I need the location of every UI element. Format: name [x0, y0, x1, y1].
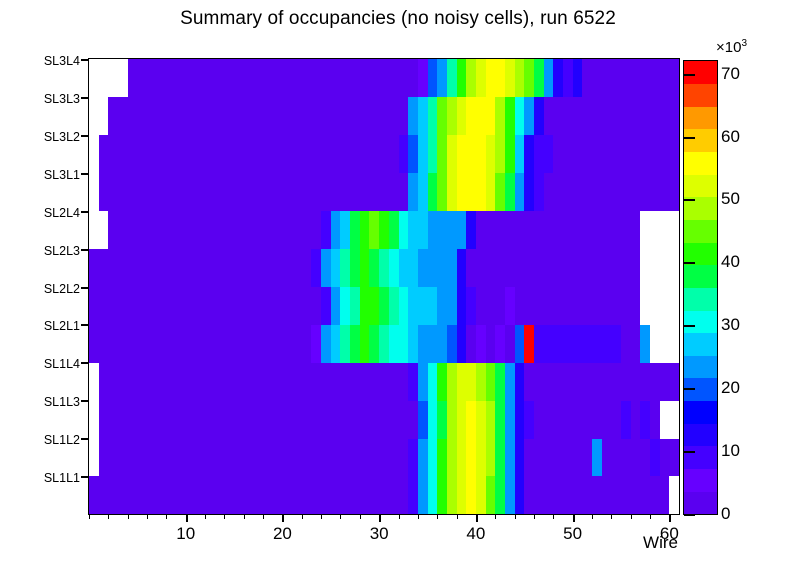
heatmap-cell [621, 324, 641, 362]
color-bar-tick [684, 74, 695, 76]
y-axis-label-sl3l3: SL3L3 [44, 92, 80, 106]
x-axis-minor-tick [437, 514, 438, 519]
heatmap-cell [495, 362, 505, 400]
heatmap-cell [360, 324, 370, 362]
heatmap-cell [321, 324, 331, 362]
color-bar: 010203040506070 [683, 60, 718, 515]
heatmap-cell [89, 135, 99, 173]
color-bar-band [684, 333, 717, 356]
heatmap-cell [495, 173, 505, 211]
heatmap-cell [99, 400, 419, 438]
color-bar-strip [684, 61, 717, 514]
heatmap-cell [418, 324, 447, 362]
heatmap-cell [457, 476, 467, 514]
heatmap-cell [418, 135, 428, 173]
heatmap-cell [447, 362, 457, 400]
heatmap-cell [563, 59, 573, 97]
color-bar-tick [684, 262, 695, 264]
x-axis-minor-tick [650, 514, 651, 519]
heatmap-cell [476, 287, 505, 325]
color-bar-tick [684, 199, 695, 201]
heatmap-cell [99, 135, 399, 173]
heatmap-cell [447, 173, 457, 211]
heatmap-cell [457, 249, 467, 287]
y-axis-label-sl1l1: SL1L1 [44, 471, 80, 485]
heatmap-cell [408, 97, 418, 135]
color-bar-band [684, 288, 717, 311]
y-axis-tick [81, 287, 89, 289]
heatmap-cell [524, 362, 679, 400]
x-axis-minor-tick [631, 514, 632, 519]
heatmap-cell [515, 400, 525, 438]
color-bar-tick [684, 451, 695, 453]
heatmap-cell [553, 135, 679, 173]
y-axis-tick [81, 59, 89, 61]
heatmap-cell [631, 400, 641, 438]
heatmap-cell [573, 59, 583, 97]
heatmap-cell [457, 173, 486, 211]
heatmap-cell [428, 135, 438, 173]
heatmap-cell [486, 173, 496, 211]
x-axis-minor-tick [128, 514, 129, 519]
heatmap-cell [437, 135, 447, 173]
heatmap-cell [515, 59, 525, 97]
heatmap-cell [360, 249, 370, 287]
heatmap-cell [486, 362, 496, 400]
heatmap-cell [534, 135, 554, 173]
y-axis-label-sl1l2: SL1L2 [44, 433, 80, 447]
color-bar-band [684, 152, 717, 175]
color-bar-label-40: 40 [721, 252, 740, 272]
heatmap-cell [466, 476, 476, 514]
heatmap-cell [515, 97, 525, 135]
x-axis-minor-tick [399, 514, 400, 519]
heatmap-cell [650, 438, 660, 476]
y-axis-label-sl2l2: SL2L2 [44, 282, 80, 296]
color-bar-label-60: 60 [721, 127, 740, 147]
heatmap-cell [524, 476, 669, 514]
heatmap-cell [476, 438, 486, 476]
x-axis-label-40: 40 [466, 524, 485, 544]
x-axis-minor-tick [495, 514, 496, 519]
heatmap-cell [640, 211, 679, 249]
color-bar-tick [684, 388, 695, 390]
heatmap-cell [340, 287, 350, 325]
heatmap-cell [379, 324, 389, 362]
heatmap-cell [640, 287, 679, 325]
x-axis-tick [186, 514, 188, 522]
heatmap-cell [534, 59, 544, 97]
heatmap-cell [457, 438, 467, 476]
heatmap-cell [505, 135, 515, 173]
color-bar-band [684, 174, 717, 197]
color-bar-band [684, 423, 717, 446]
heatmap-cell [418, 59, 428, 97]
x-axis-minor-tick [611, 514, 612, 519]
heatmap-cell [399, 135, 409, 173]
heatmap-cell [89, 249, 312, 287]
heatmap-cell [311, 249, 321, 287]
heatmap-cell [524, 400, 534, 438]
x-axis-tick [379, 514, 381, 522]
heatmap-cell [466, 97, 495, 135]
heatmap-cell [399, 211, 409, 249]
y-axis-tick [81, 173, 89, 175]
heatmap-cell [582, 59, 679, 97]
heatmap-cell [466, 400, 476, 438]
heatmap-cell [505, 59, 515, 97]
heatmap-cell [437, 400, 447, 438]
heatmap-cell [466, 287, 476, 325]
y-axis-tick [81, 211, 89, 213]
heatmap-cell [340, 249, 350, 287]
color-bar-band [684, 491, 717, 514]
heatmap-cell [476, 324, 486, 362]
x-axis-minor-tick [166, 514, 167, 519]
heatmap-cell [428, 476, 438, 514]
heatmap-cell [447, 135, 457, 173]
x-axis-minor-tick [224, 514, 225, 519]
x-axis-minor-tick [108, 514, 109, 519]
heatmap-cell [408, 362, 418, 400]
color-bar-tick [684, 514, 695, 516]
heatmap-cell [640, 400, 650, 438]
heatmap-cell [331, 249, 341, 287]
x-axis-minor-tick [147, 514, 148, 519]
color-bar-band [684, 61, 717, 84]
heatmap-cell [418, 249, 457, 287]
heatmap-cell [640, 249, 679, 287]
color-bar-label-10: 10 [721, 441, 740, 461]
heatmap-cell [428, 362, 438, 400]
heatmap-cell [495, 97, 505, 135]
heatmap-cell [524, 173, 534, 211]
heatmap-cell [89, 97, 109, 135]
color-bar-band [684, 446, 717, 469]
y-axis-tick [81, 97, 89, 99]
heatmap-cell [505, 173, 515, 211]
heatmap-cell [476, 59, 486, 97]
color-bar-exponent: ×103 [716, 38, 747, 56]
heatmap-cells [89, 59, 679, 514]
heatmap-cell [89, 400, 99, 438]
color-bar-band [684, 106, 717, 129]
heatmap-cell [99, 173, 409, 211]
heatmap-cell [360, 287, 380, 325]
heatmap-cell [486, 476, 496, 514]
heatmap-cell [99, 438, 409, 476]
heatmap-cell [602, 438, 651, 476]
heatmap-cell [505, 362, 515, 400]
color-bar-band [684, 84, 717, 107]
heatmap-cell [89, 438, 99, 476]
heatmap-cell [399, 287, 409, 325]
heatmap-cell [428, 400, 438, 438]
x-axis-minor-tick [263, 514, 264, 519]
heatmap-cell [428, 59, 438, 97]
heatmap-cell [418, 438, 428, 476]
heatmap-cell [389, 249, 399, 287]
heatmap-cell [476, 400, 486, 438]
heatmap-cell [331, 211, 341, 249]
heatmap-cell [379, 249, 389, 287]
x-axis-minor-tick [321, 514, 322, 519]
heatmap-cell [515, 362, 525, 400]
heatmap-cell [418, 173, 428, 211]
heatmap-cell [428, 211, 467, 249]
y-axis-tick [81, 135, 89, 137]
heatmap-cell [408, 173, 418, 211]
color-bar-band [684, 310, 717, 333]
heatmap-cell [457, 97, 467, 135]
heatmap-cell [486, 324, 496, 362]
x-axis-minor-tick [515, 514, 516, 519]
heatmap-cell [350, 287, 360, 325]
x-axis-label-50: 50 [563, 524, 582, 544]
heatmap-cell [515, 287, 641, 325]
y-axis-label-sl2l4: SL2L4 [44, 206, 80, 220]
heatmap-cell [437, 476, 447, 514]
heatmap-cell [534, 97, 544, 135]
heatmap-cell [89, 476, 409, 514]
color-bar-band [684, 401, 717, 424]
heatmap-cell [457, 400, 467, 438]
heatmap-cell [321, 211, 331, 249]
x-axis-minor-tick [418, 514, 419, 519]
heatmap-cell [379, 287, 389, 325]
heatmap-cell [389, 287, 399, 325]
heatmap-cell [350, 249, 360, 287]
heatmap-cell [389, 211, 399, 249]
heatmap-cell [486, 59, 506, 97]
x-axis-minor-tick [205, 514, 206, 519]
y-axis-tick [81, 400, 89, 402]
color-bar-label-70: 70 [721, 64, 740, 84]
color-bar-tick [684, 137, 695, 139]
heatmap-cell [89, 287, 322, 325]
heatmap-cell [534, 173, 544, 211]
x-axis-tick [573, 514, 575, 522]
heatmap-cell [457, 287, 467, 325]
y-axis-tick [81, 249, 89, 251]
color-bar-label-50: 50 [721, 189, 740, 209]
heatmap-cell [515, 324, 525, 362]
x-axis-label-10: 10 [176, 524, 195, 544]
y-axis-label-sl2l3: SL2L3 [44, 244, 80, 258]
heatmap-cell [321, 249, 331, 287]
heatmap-cell [408, 324, 418, 362]
y-axis-tick [81, 476, 89, 478]
heatmap-cell [437, 438, 447, 476]
heatmap-cell [437, 362, 447, 400]
heatmap-cell [466, 324, 476, 362]
heatmap-cell [331, 287, 341, 325]
heatmap-cell [505, 324, 515, 362]
heatmap-cell [466, 211, 476, 249]
heatmap-cell [408, 135, 418, 173]
y-axis-label-sl3l2: SL3L2 [44, 130, 80, 144]
heatmap-cell [640, 324, 650, 362]
x-axis-minor-tick [592, 514, 593, 519]
page-title: Summary of occupancies (no noisy cells),… [0, 8, 796, 30]
heatmap-cell [447, 59, 457, 97]
color-bar-label-0: 0 [721, 504, 730, 524]
heatmap-cell [457, 59, 467, 97]
heatmap-cell [89, 362, 99, 400]
heatmap-cell [350, 324, 360, 362]
heatmap-cell [408, 438, 418, 476]
heatmap-cell [505, 438, 515, 476]
x-axis-minor-tick [534, 514, 535, 519]
heatmap-cell [447, 97, 457, 135]
heatmap-cell [505, 400, 515, 438]
heatmap-cell [486, 400, 496, 438]
heatmap-cell [350, 211, 360, 249]
heatmap-cell [418, 362, 428, 400]
y-axis-tick [81, 324, 89, 326]
heatmap-cell [524, 438, 592, 476]
x-axis-minor-tick [340, 514, 341, 519]
heatmap-cell [399, 249, 419, 287]
heatmap-cell [89, 324, 312, 362]
heatmap-cell [331, 324, 341, 362]
heatmap-cell [495, 400, 505, 438]
y-axis-tick [81, 362, 89, 364]
heatmap-cell [428, 438, 438, 476]
y-axis-label-sl3l4: SL3L4 [44, 54, 80, 68]
heatmap-cell [660, 438, 679, 476]
heatmap-cell [360, 211, 370, 249]
heatmap-cell [457, 135, 486, 173]
heatmap-cell [515, 438, 525, 476]
heatmap-cell [99, 362, 409, 400]
heatmap-cell [408, 287, 437, 325]
color-bar-tick [684, 325, 695, 327]
heatmap-cell [524, 324, 534, 362]
color-bar-band [684, 220, 717, 243]
plot-frame: SL1L1SL1L2SL1L3SL1L4SL2L1SL2L2SL2L3SL2L4… [88, 58, 680, 515]
heatmap-cell [447, 400, 457, 438]
heatmap-cell [495, 438, 505, 476]
heatmap-cell [486, 135, 496, 173]
x-axis-label-30: 30 [370, 524, 389, 544]
heatmap-cell [553, 59, 563, 97]
y-axis-label-sl3l1: SL3L1 [44, 168, 80, 182]
heatmap-cell [650, 400, 660, 438]
color-bar-band [684, 265, 717, 288]
heatmap-cell [418, 400, 428, 438]
heatmap-cell [515, 173, 525, 211]
heatmap-cell [650, 324, 679, 362]
heatmap-cell [495, 135, 505, 173]
heatmap-cell [369, 324, 379, 362]
heatmap-cell [128, 59, 419, 97]
heatmap-cell [89, 59, 128, 97]
heatmap-cell [321, 287, 331, 325]
heatmap-cell [660, 400, 679, 438]
heatmap-cell [457, 362, 477, 400]
heatmap-cell [592, 438, 602, 476]
color-bar-band [684, 469, 717, 492]
heatmap-cell [437, 287, 457, 325]
heatmap-cell [495, 476, 505, 514]
heatmap-cell [108, 211, 321, 249]
x-axis-minor-tick [457, 514, 458, 519]
heatmap-cell [486, 438, 496, 476]
heatmap-cell [437, 173, 447, 211]
heatmap-cell [544, 59, 554, 97]
heatmap-cell [379, 211, 389, 249]
x-axis-tick [669, 514, 671, 522]
heatmap-cell [408, 211, 428, 249]
heatmap-cell [389, 324, 409, 362]
heatmap-cell [311, 324, 321, 362]
y-axis-label-sl1l3: SL1L3 [44, 395, 80, 409]
heatmap-cell [534, 400, 621, 438]
x-axis-label-20: 20 [273, 524, 292, 544]
heatmap-cell [524, 97, 534, 135]
heatmap-cell [505, 97, 515, 135]
heatmap-cell [476, 362, 486, 400]
x-axis-title: Wire [643, 533, 678, 553]
heatmap-cell [524, 135, 534, 173]
heatmap-cell [621, 400, 631, 438]
y-axis-tick [81, 438, 89, 440]
color-bar-band [684, 355, 717, 378]
heatmap-cell [457, 324, 467, 362]
heatmap-cell [437, 59, 447, 97]
heatmap-cell [505, 287, 515, 325]
y-axis-label-sl2l1: SL2L1 [44, 319, 80, 333]
x-axis-minor-tick [89, 514, 90, 519]
heatmap-cell [340, 324, 350, 362]
heatmap-cell [534, 324, 621, 362]
heatmap-cell [669, 476, 679, 514]
heatmap-cell [505, 476, 515, 514]
heatmap-cell [428, 173, 438, 211]
heatmap-cell [428, 97, 438, 135]
heatmap-cell [418, 97, 428, 135]
heatmap-cell [437, 97, 447, 135]
heatmap-cell [108, 97, 408, 135]
heatmap-cell [89, 173, 99, 211]
heatmap-cell [476, 211, 641, 249]
heatmap-cell [524, 59, 534, 97]
x-axis-tick [282, 514, 284, 522]
color-bar-label-20: 20 [721, 378, 740, 398]
heatmap-cell [515, 476, 525, 514]
heatmap-cell [418, 476, 428, 514]
heatmap-cell [340, 211, 350, 249]
color-bar-label-30: 30 [721, 315, 740, 335]
y-axis-label-sl1l4: SL1L4 [44, 357, 80, 371]
root-canvas: Summary of occupancies (no noisy cells),… [0, 0, 796, 572]
heatmap-cell [408, 476, 418, 514]
x-axis-minor-tick [244, 514, 245, 519]
heatmap-cell [447, 324, 457, 362]
heatmap-cell [447, 476, 457, 514]
heatmap-cell [447, 438, 457, 476]
heatmap-cell [515, 135, 525, 173]
heatmap-cell [476, 476, 486, 514]
heatmap-cell [466, 249, 641, 287]
heatmap-cell [495, 324, 505, 362]
heatmap-cell [466, 438, 476, 476]
heatmap-cell [89, 211, 109, 249]
color-bar-band [684, 129, 717, 152]
heatmap-cell [369, 249, 379, 287]
heatmap-cell [544, 173, 679, 211]
